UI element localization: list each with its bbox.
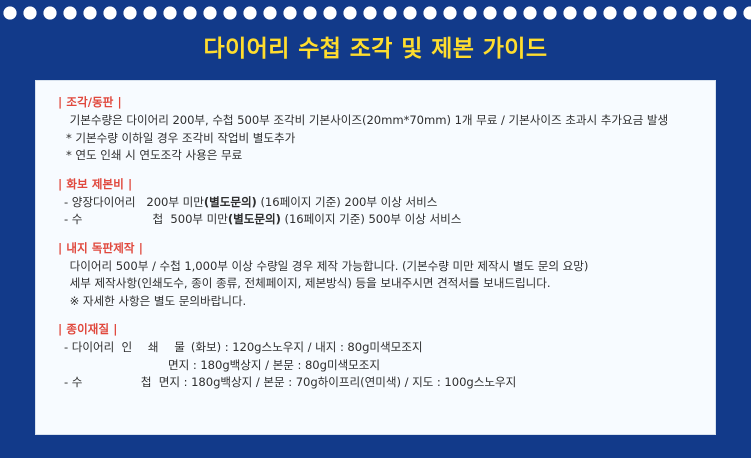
paper-row-rest: (화보) : 120g스노우지 / 내지 : 80g미색모조지	[191, 340, 423, 354]
binding-row-bold-note: (별도문의)	[228, 212, 281, 226]
section-line: * 연도 인쇄 시 연도조각 사용은 무료	[58, 147, 715, 165]
binding-row-note: (16페이지 기준) 500부 이상 서비스	[281, 212, 462, 226]
promo-banner: 다이어리 수첩 조각 및 제본 가이드 | 조각/동판 | 기본수량은 다이어리…	[0, 0, 751, 458]
binding-row: - 수 첩 500부 미만(별도문의) (16페이지 기준) 500부 이상 서…	[58, 211, 715, 229]
section-line: 기본수량은 다이어리 200부, 수첩 500부 조각비 기본사이즈(20mm*…	[58, 112, 715, 130]
section-custom-inner-production: | 내지 독판제작 | 다이어리 500부 / 수첩 1,000부 이상 수량일…	[58, 240, 715, 311]
paper-row: 면지 : 180g백상지 / 본문 : 80g미색모조지	[58, 357, 715, 375]
paper-row-spacer	[82, 374, 140, 392]
binding-row: - 양장다이어리 200부 미만(별도문의) (16페이지 기준) 200부 이…	[58, 194, 715, 212]
paper-row-gap	[114, 340, 121, 354]
section-heading: | 내지 독판제작 |	[58, 240, 715, 257]
section-heading: | 조각/동판 |	[58, 94, 715, 111]
section-line: ※ 자세한 사항은 별도 문의바랍니다.	[58, 293, 715, 311]
binding-row-qty: 500부 미만	[170, 212, 227, 226]
section-binding-cost: | 화보 제본비 | - 양장다이어리 200부 미만(별도문의) (16페이지…	[58, 176, 715, 229]
binding-row-label-b: 첩	[153, 212, 164, 226]
binding-row-gap	[135, 195, 146, 209]
paper-row: - 다이어리 인 쇄 물(화보) : 120g스노우지 / 내지 : 80g미색…	[58, 339, 715, 357]
paper-row-label-a: - 수	[64, 375, 82, 389]
section-heading: | 화보 제본비 |	[58, 176, 715, 193]
binding-row-label-a: - 수	[64, 212, 82, 226]
guide-content-card: | 조각/동판 | 기본수량은 다이어리 200부, 수첩 500부 조각비 기…	[35, 80, 716, 435]
paper-row-gap	[151, 375, 158, 389]
paper-row: - 수 첩 면지 : 180g백상지 / 본문 : 70g하이프리(연미색) /…	[58, 374, 715, 392]
page-title-text: 다이어리 수첩 조각 및 제본 가이드	[204, 34, 548, 64]
paper-row-label-b: 첩	[141, 375, 152, 389]
binding-row-note: (16페이지 기준) 200부 이상 서비스	[257, 195, 438, 209]
section-engraving: | 조각/동판 | 기본수량은 다이어리 200부, 수첩 500부 조각비 기…	[58, 94, 715, 165]
page-title: 다이어리 수첩 조각 및 제본 가이드	[0, 34, 751, 64]
section-line: 다이어리 500부 / 수첩 1,000부 이상 수량일 경우 제작 가능합니다…	[58, 258, 715, 276]
paper-row-label: - 다이어리	[64, 340, 114, 354]
binding-row-spacer	[82, 211, 152, 229]
paper-row-spread-label: 인 쇄 물	[122, 339, 191, 357]
binding-row-bold-note: (별도문의)	[204, 195, 257, 209]
binding-row-label: - 양장다이어리	[64, 195, 135, 209]
paper-row-rest: 면지 : 180g백상지 / 본문 : 70g하이프리(연미색) / 지도 : …	[159, 375, 516, 389]
section-line: * 기본수량 이하일 경우 조각비 작업비 별도추가	[58, 130, 715, 148]
section-line: 세부 제작사항(인쇄도수, 종이 종류, 전체페이지, 제본방식) 등을 보내주…	[58, 275, 715, 293]
binding-row-qty: 200부 미만	[146, 195, 203, 209]
scalloped-edge-decoration	[0, 0, 751, 26]
section-heading: | 종이재질 |	[58, 321, 715, 338]
section-paper-material: | 종이재질 | - 다이어리 인 쇄 물(화보) : 120g스노우지 / 내…	[58, 321, 715, 392]
